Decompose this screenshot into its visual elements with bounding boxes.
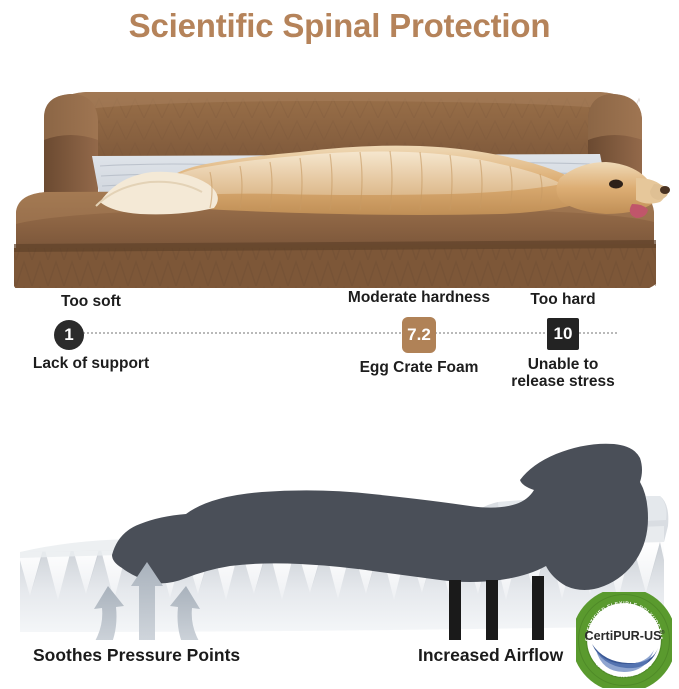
certipur-us-logo-mark: CONTAINS CERTIFIED FLEXIBLE POLYURETHANE… xyxy=(576,592,672,688)
certipur-trademark: ® xyxy=(661,629,665,636)
hardness-scale-line xyxy=(72,332,617,334)
scale-label-above-too-soft: Too soft xyxy=(36,293,146,311)
title-band: Scientific Spinal Protection xyxy=(0,0,679,52)
scale-marker-too-soft: Too soft 1 Lack of support xyxy=(54,320,84,350)
certipur-brand-text: CertiPUR-US xyxy=(585,629,662,643)
scale-label-below-too-soft: Lack of support xyxy=(1,355,181,373)
page-title: Scientific Spinal Protection xyxy=(129,7,551,45)
scale-value-too-soft: 1 xyxy=(54,320,84,350)
certipur-us-logo: CONTAINS CERTIFIED FLEXIBLE POLYURETHANE… xyxy=(576,592,672,688)
scale-value-moderate: 7.2 xyxy=(402,317,436,353)
scale-label-below-too-hard: Unable to release stress xyxy=(502,356,624,391)
scale-label-below-moderate: Egg Crate Foam xyxy=(334,359,504,377)
caption-increased-airflow: Increased Airflow xyxy=(418,645,563,666)
product-photo xyxy=(0,52,679,288)
infographic-page: Scientific Spinal Protection xyxy=(0,0,679,689)
caption-soothes-pressure-points: Soothes Pressure Points xyxy=(33,645,240,666)
scale-marker-moderate: Moderate hardness 7.2 Egg Crate Foam xyxy=(402,317,436,353)
scale-label-above-moderate: Moderate hardness xyxy=(329,289,509,307)
scale-marker-too-hard: Too hard 10 Unable to release stress xyxy=(547,318,579,350)
dog-silhouette xyxy=(112,444,648,590)
scale-label-above-too-hard: Too hard xyxy=(505,291,621,309)
scale-value-too-hard: 10 xyxy=(547,318,579,350)
product-photo-illustration xyxy=(0,52,679,288)
